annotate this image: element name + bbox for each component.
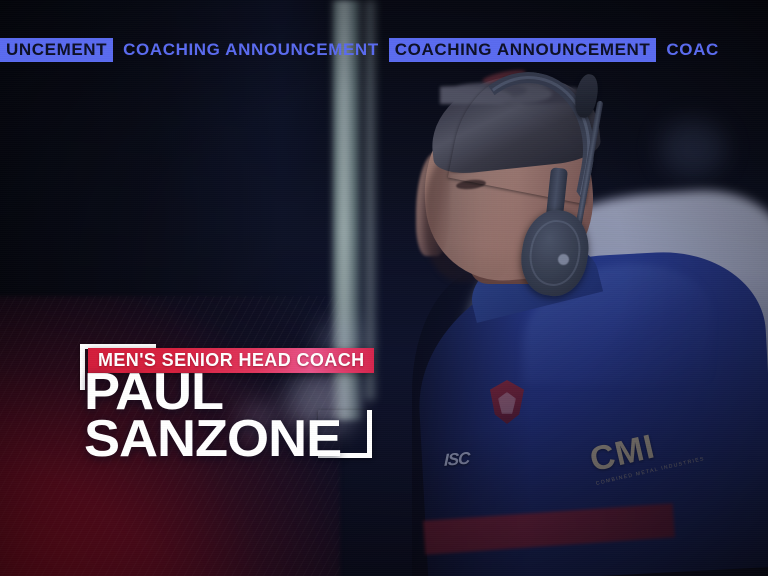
coach-name-block: PAUL SANZONE [84,372,331,460]
coach-first-name: PAUL [84,372,341,414]
announcement-graphic: ISC CMI COMBINED METAL INDUSTRIES QLS UN… [0,0,768,576]
lower-third: MEN'S SENIOR HEAD COACH PAUL SANZONE [0,0,768,576]
coach-last-name: SANZONE [84,419,341,461]
